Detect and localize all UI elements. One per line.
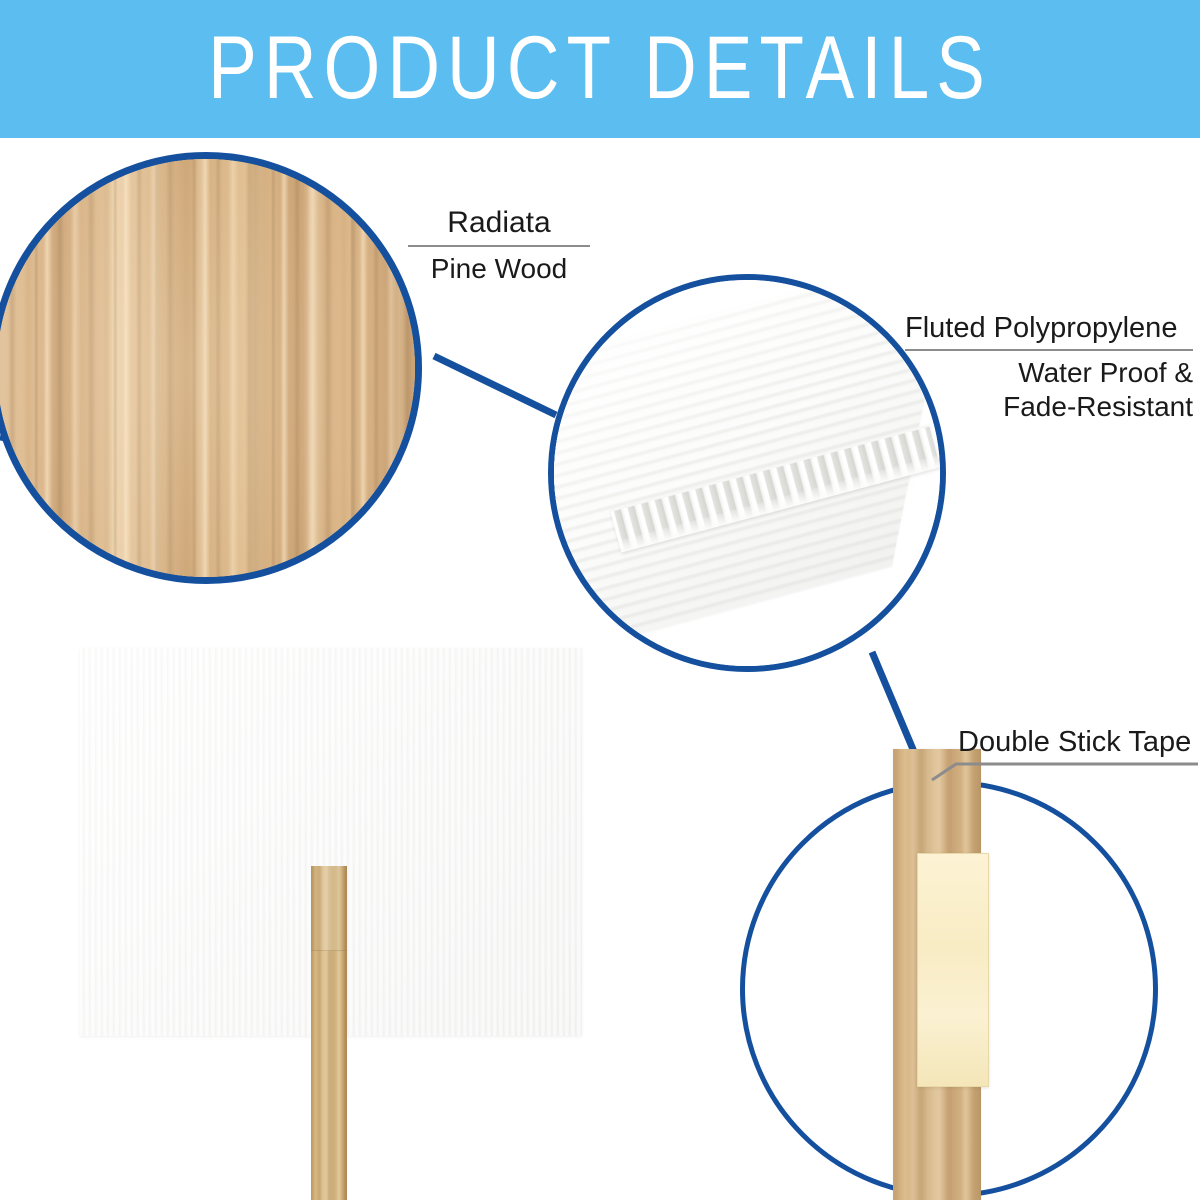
callout-label-double-stick-tape: Double Stick Tape [958,726,1196,758]
header-banner: PRODUCT DETAILS [0,0,1200,138]
callout-label-fluted-polypropylene: Fluted Polypropylene Water Proof & Fade-… [905,312,1193,423]
callout-wood-rule [408,245,590,247]
page-title: PRODUCT DETAILS [208,23,992,115]
callout-tape-title: Double Stick Tape [958,726,1196,758]
callout-flute-subtitle-line-2: Fade-Resistant [905,390,1193,423]
callout-circle-double-stick-tape [740,780,1158,1198]
product-photo-yard-sign [80,648,582,1036]
callout-circle-wood [0,152,422,584]
callout-circle-fluted-polypropylene [548,274,946,672]
fluted-sheet-scene [554,280,940,666]
product-details-infographic: PRODUCT DETAILS Radiata Pine Wood Fluted… [0,0,1200,1200]
connector-wood-to-flute [434,356,556,415]
callout-label-wood: Radiata Pine Wood [408,206,590,285]
sign-stake-insert-segment [311,866,347,951]
callout-flute-title: Fluted Polypropylene [905,312,1193,344]
wood-grain-texture [0,152,422,584]
callout-wood-title: Radiata [408,206,590,240]
callout-tape-rule [930,760,1198,782]
tape-stake-scene [745,785,1153,1193]
callout-flute-subtitle-line-1: Water Proof & [905,356,1193,389]
double-stick-tape-strip [917,853,989,1087]
callout-flute-rule [905,349,1193,351]
